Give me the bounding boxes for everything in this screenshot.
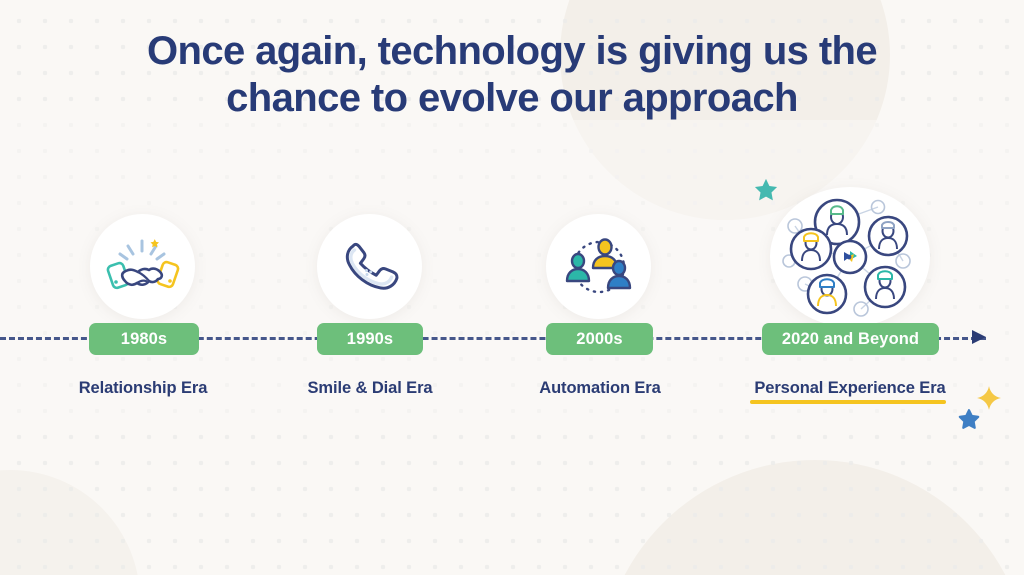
slide-canvas: Once again, technology is giving us the …	[0, 0, 1024, 575]
teal-star-icon	[752, 177, 780, 205]
timeline-era-label-relationship: Relationship Era	[43, 379, 243, 398]
timeline-badge-1990s[interactable]: 1990s	[317, 323, 423, 355]
blue-star-icon	[957, 408, 981, 432]
timeline-badge-2020-and-beyond[interactable]: 2020 and Beyond	[762, 323, 939, 355]
timeline-era-label-smile-dial: Smile & Dial Era	[270, 379, 470, 398]
page-title-line-2: chance to evolve our approach	[72, 75, 952, 122]
timeline-era-label-automation: Automation Era	[500, 379, 700, 398]
timeline-arrow-right-icon	[972, 330, 986, 344]
page-title: Once again, technology is giving us the …	[72, 28, 952, 122]
telephone-handset-icon	[317, 214, 422, 319]
connected-people-hub-icon	[770, 187, 930, 327]
page-title-line-1: Once again, technology is giving us the	[72, 28, 952, 75]
handshake-icon	[90, 214, 195, 319]
timeline-era-label-personal-experience: Personal Experience Era	[725, 379, 975, 398]
decorative-circle-bottom-left	[0, 470, 140, 575]
active-era-underline	[750, 400, 946, 404]
decorative-circle-bottom-right	[600, 460, 1024, 575]
timeline-badge-1980s[interactable]: 1980s	[89, 323, 199, 355]
timeline-badge-2000s[interactable]: 2000s	[546, 323, 653, 355]
people-network-icon	[546, 214, 651, 319]
